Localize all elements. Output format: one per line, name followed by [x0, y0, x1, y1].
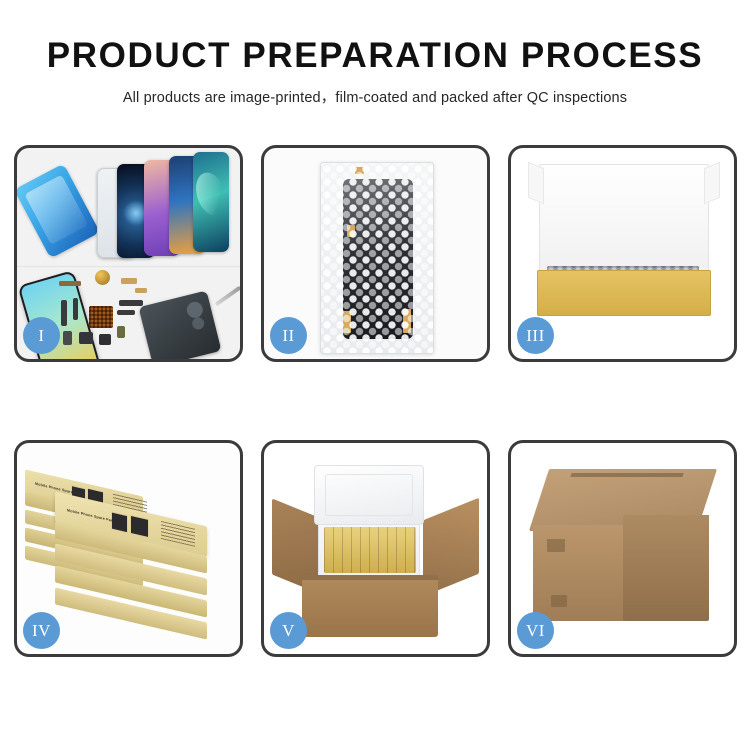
- small-part-bracket: [121, 278, 137, 284]
- sim-tray-part: [117, 326, 125, 338]
- process-step-panel-5[interactable]: V: [261, 440, 490, 657]
- carton-hand-hole-top: [547, 539, 565, 552]
- step-badge-4: IV: [23, 612, 60, 649]
- flex-cable-short: [117, 310, 135, 315]
- phone-screen-teal: [193, 152, 229, 252]
- inner-box-kraft-tray: [537, 270, 711, 316]
- small-part-strip: [59, 281, 81, 286]
- taptic-engine-part: [79, 332, 93, 344]
- box-label-front: Mobile Phone Spare Parts: [67, 508, 116, 523]
- process-step-panel-1[interactable]: I: [14, 145, 243, 362]
- speaker-module-part: [95, 270, 110, 285]
- box-text-block-front: [161, 521, 195, 547]
- step-badge-3: III: [517, 317, 554, 354]
- small-part-connector: [135, 288, 147, 293]
- process-step-panel-6[interactable]: VI: [508, 440, 737, 657]
- page-title: PRODUCT PREPARATION PROCESS: [0, 38, 750, 75]
- process-steps-grid: I II III: [14, 145, 736, 675]
- bubble-texture: [321, 163, 433, 353]
- flex-cable-left: [61, 300, 67, 326]
- carton-hand-hole-bottom: [551, 595, 567, 607]
- step-badge-6: VI: [517, 612, 554, 649]
- shelf-divider-line: [17, 266, 240, 267]
- phone-back-housing: [139, 290, 222, 359]
- carton-body: [302, 575, 438, 637]
- camera-module: [63, 331, 72, 345]
- carton-side-face: [623, 515, 709, 621]
- speaker-part: [99, 334, 111, 345]
- flex-cable-long: [119, 300, 143, 306]
- inner-boxes-inside-foam: [324, 527, 416, 573]
- process-step-panel-3[interactable]: III: [508, 145, 737, 362]
- page-subtitle: All products are image-printed，film-coat…: [0, 86, 750, 107]
- header: PRODUCT PREPARATION PROCESS All products…: [0, 0, 750, 107]
- inner-box-white-lid: [539, 164, 709, 276]
- foam-liner-lid: [314, 465, 424, 525]
- tweezers-tool: [215, 286, 240, 306]
- logic-board-chip: [89, 306, 113, 328]
- step-badge-1: I: [23, 317, 60, 354]
- step-badge-2: II: [270, 317, 307, 354]
- bubble-wrap-bag: [320, 162, 434, 354]
- screen-protector-film: [17, 163, 100, 258]
- box-window-front-b: [130, 515, 149, 538]
- carton-tape-seam: [570, 473, 683, 477]
- flex-cable-mid: [73, 298, 78, 320]
- process-step-panel-2[interactable]: II: [261, 145, 490, 362]
- product-preparation-process-page: PRODUCT PREPARATION PROCESS All products…: [0, 0, 750, 750]
- step-badge-5: V: [270, 612, 307, 649]
- process-step-panel-4[interactable]: Mobile Phone Spare Parts Mobile Phone Sp…: [14, 440, 243, 657]
